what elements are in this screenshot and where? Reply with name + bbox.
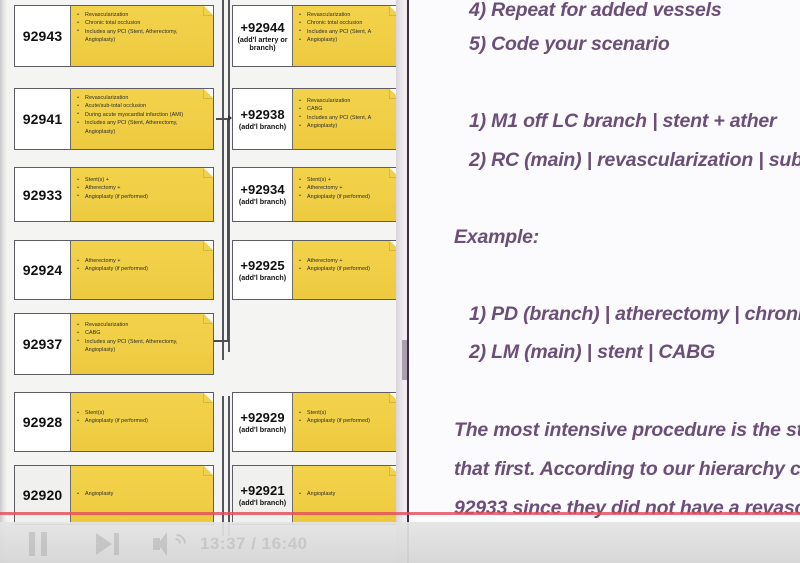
bullet-list: Stent(s) + Atherectomy + Angioplasty (if… bbox=[77, 173, 208, 201]
code-box: 92933 bbox=[15, 168, 71, 221]
code-box: 92943 bbox=[15, 6, 71, 66]
doc-text-line: 4) Repeat for added vessels bbox=[469, 0, 722, 22]
code-card-92943[interactable]: 92943 Revascularization Chronic total oc… bbox=[14, 5, 214, 67]
next-track-icon[interactable] bbox=[96, 533, 122, 555]
bullet-list: Stent(s) Angioplasty (if performed) bbox=[299, 398, 394, 426]
code-card-92937[interactable]: 92937 Revascularization CABG Includes an… bbox=[14, 313, 214, 375]
bullet-item: Atherectomy + bbox=[299, 184, 394, 192]
bullet-item: Stent(s) + bbox=[299, 176, 394, 184]
code-sublabel: (add'l branch) bbox=[239, 123, 286, 131]
code-sublabel: (add'l artery or branch) bbox=[235, 36, 291, 53]
time-display: 13:37 / 16:40 bbox=[200, 534, 308, 554]
code-card-92921[interactable]: +92921 (add'l branch) Angioplasty bbox=[232, 465, 400, 525]
code-label: +92929 bbox=[240, 410, 284, 425]
bullet-item: Atherectomy + bbox=[77, 257, 208, 265]
bullet-item: Revascularization bbox=[77, 321, 208, 329]
folded-corner bbox=[204, 466, 213, 475]
bullet-item: Angioplasty (if performed) bbox=[299, 417, 394, 425]
code-label: +92938 bbox=[240, 107, 284, 122]
code-label: 92924 bbox=[23, 262, 62, 278]
doc-text-line: The most intensive procedure is the sten… bbox=[454, 419, 800, 442]
folded-corner bbox=[204, 241, 213, 250]
video-progress-bar[interactable] bbox=[0, 510, 800, 516]
bullet-list: Angioplasty bbox=[77, 471, 208, 498]
code-card-92920[interactable]: 92920 Angioplasty bbox=[14, 465, 214, 525]
next-triangle bbox=[96, 533, 112, 555]
code-label: 92941 bbox=[23, 111, 62, 127]
gutter-rail-left bbox=[222, 0, 224, 360]
code-card-92941[interactable]: 92941 Revascularization Acute/sub-total … bbox=[14, 88, 214, 150]
code-card-92938[interactable]: +92938 (add'l branch) Revascularization … bbox=[232, 88, 400, 150]
sound-wave-outer bbox=[163, 530, 190, 557]
bullet-item: Angioplasty bbox=[77, 490, 208, 498]
code-box: 92924 bbox=[15, 241, 71, 299]
code-body: Atherectomy + Angioplasty (if performed) bbox=[71, 241, 213, 299]
bullet-item: Includes any PCI (Stent, Atherectomy, An… bbox=[77, 338, 208, 355]
bullet-item: CABG bbox=[77, 329, 208, 337]
code-box: +92944 (add'l artery or branch) bbox=[233, 6, 293, 66]
bullet-item: Includes any PCI (Stent, A bbox=[299, 28, 394, 36]
bullet-item: Atherectomy + bbox=[299, 257, 394, 265]
bullet-item: Angioplasty (if performed) bbox=[77, 193, 208, 201]
pause-bar-left bbox=[29, 532, 35, 556]
bullet-item: Revascularization bbox=[299, 11, 394, 19]
code-label: +92925 bbox=[240, 258, 284, 273]
connector-92937-vertical bbox=[227, 118, 229, 342]
bullet-item: Includes any PCI (Stent, A bbox=[299, 114, 394, 122]
next-bar bbox=[114, 533, 119, 555]
code-sublabel: (add'l branch) bbox=[239, 499, 286, 507]
bullet-item: Revascularization bbox=[299, 97, 394, 105]
code-body: Revascularization CABG Includes any PCI … bbox=[293, 89, 399, 149]
code-label: +92944 bbox=[240, 20, 284, 35]
code-body: Revascularization Acute/sub-total occlus… bbox=[71, 89, 213, 149]
code-label: 92920 bbox=[23, 487, 62, 503]
slide-pane: 92943 Revascularization Chronic total oc… bbox=[0, 0, 402, 563]
bullet-list: Atherectomy + Angioplasty (if performed) bbox=[299, 246, 394, 274]
bullet-item: Angioplasty (if performed) bbox=[77, 265, 208, 273]
bullet-cont: Angioplasty) bbox=[299, 36, 394, 44]
video-player-screen: 92943 Revascularization Chronic total oc… bbox=[0, 0, 800, 563]
bullet-item: Atherectomy + bbox=[77, 184, 208, 192]
code-box: +92938 (add'l branch) bbox=[233, 89, 293, 149]
code-card-92924[interactable]: 92924 Atherectomy + Angioplasty (if perf… bbox=[14, 240, 214, 300]
code-body: Revascularization CABG Includes any PCI … bbox=[71, 314, 213, 374]
doc-text-line: 5) Code your scenario bbox=[469, 33, 670, 56]
bullet-list: Revascularization Chronic total occlusio… bbox=[299, 11, 394, 45]
code-card-92925[interactable]: +92925 (add'l branch) Atherectomy + Angi… bbox=[232, 240, 400, 300]
bullet-list: Stent(s) Angioplasty (if performed) bbox=[77, 398, 208, 426]
code-body: Stent(s) + Atherectomy + Angioplasty (if… bbox=[293, 168, 399, 221]
code-box: +92925 (add'l branch) bbox=[233, 241, 293, 299]
slide-left-edge bbox=[0, 0, 7, 563]
bullet-list: Stent(s) + Atherectomy + Angioplasty (if… bbox=[299, 173, 394, 201]
code-body: Revascularization Chronic total occlusio… bbox=[293, 6, 399, 66]
bullet-item: During acute myocardial infarction (AMI) bbox=[77, 111, 208, 119]
bullet-item: Angioplasty (if performed) bbox=[77, 417, 208, 425]
code-box: +92934 (add'l branch) bbox=[233, 168, 293, 221]
bullet-item: Angioplasty (if performed) bbox=[299, 265, 394, 273]
bullet-item: Angioplasty bbox=[299, 490, 394, 498]
pause-icon[interactable] bbox=[28, 532, 50, 556]
code-body: Stent(s) + Atherectomy + Angioplasty (if… bbox=[71, 168, 213, 221]
bullet-list: Revascularization Chronic total occlusio… bbox=[77, 11, 208, 45]
bullet-item: Includes any PCI (Stent, Atherectomy, An… bbox=[77, 119, 208, 136]
bullet-item: Includes any PCI (Stent, Atherectomy, An… bbox=[77, 28, 208, 45]
bullet-item: Angioplasty (if performed) bbox=[299, 193, 394, 201]
pause-bar-right bbox=[41, 532, 47, 556]
bullet-list: Angioplasty bbox=[299, 471, 394, 498]
code-sublabel: (add'l branch) bbox=[239, 198, 286, 206]
code-label: +92934 bbox=[240, 182, 284, 197]
code-label: 92943 bbox=[23, 28, 62, 44]
doc-text-line: 2) LM (main) | stent | CABG bbox=[469, 341, 715, 364]
bullet-list: Atherectomy + Angioplasty (if performed) bbox=[77, 246, 208, 274]
progress-fill bbox=[0, 512, 800, 515]
bullet-item: CABG bbox=[299, 105, 394, 113]
code-card-92933[interactable]: 92933 Stent(s) + Atherectomy + Angioplas… bbox=[14, 167, 214, 222]
bullet-list: Revascularization Acute/sub-total occlus… bbox=[77, 94, 208, 136]
folded-corner bbox=[204, 89, 213, 98]
code-body: Stent(s) Angioplasty (if performed) bbox=[293, 393, 399, 451]
doc-text-line: 1) PD (branch) | atherectomy | chronic t bbox=[469, 303, 800, 326]
folded-corner bbox=[204, 393, 213, 402]
code-body: Atherectomy + Angioplasty (if performed) bbox=[293, 241, 399, 299]
volume-icon[interactable] bbox=[153, 532, 187, 556]
bullet-item: Stent(s) + bbox=[77, 176, 208, 184]
document-pane: 4) Repeat for added vessels 5) Code your… bbox=[409, 0, 800, 563]
doc-text-line: 2) RC (main) | revascularization | sub-t… bbox=[469, 149, 800, 172]
doc-text-line: 1) M1 off LC branch | stent + ather bbox=[469, 110, 776, 133]
code-box: 92937 bbox=[15, 314, 71, 374]
bullet-cont: Angioplasty) bbox=[299, 122, 394, 130]
code-sublabel: (add'l branch) bbox=[239, 274, 286, 282]
code-card-92944[interactable]: +92944 (add'l artery or branch) Revascul… bbox=[232, 5, 400, 67]
bullet-item: Chronic total occlusion bbox=[299, 19, 394, 27]
folded-corner bbox=[204, 6, 213, 15]
folded-corner bbox=[204, 168, 213, 177]
bullet-item: Revascularization bbox=[77, 94, 208, 102]
code-label: 92933 bbox=[23, 187, 62, 203]
doc-text-line: that first. According to our hierarchy c… bbox=[454, 458, 800, 481]
bullet-item: Acute/sub-total occlusion bbox=[77, 102, 208, 110]
code-card-92934[interactable]: +92934 (add'l branch) Stent(s) + Atherec… bbox=[232, 167, 400, 222]
code-card-92929[interactable]: +92929 (add'l branch) Stent(s) Angioplas… bbox=[232, 392, 400, 452]
code-box: +92929 (add'l branch) bbox=[233, 393, 293, 451]
doc-text-line: Example: bbox=[454, 226, 539, 249]
code-box: 92941 bbox=[15, 89, 71, 149]
code-body: Stent(s) Angioplasty (if performed) bbox=[71, 393, 213, 451]
doc-text-line: 92933 since they did not have a revascul… bbox=[454, 497, 800, 520]
code-label: 92928 bbox=[23, 414, 62, 430]
code-sublabel: (add'l branch) bbox=[239, 426, 286, 434]
code-label: 92937 bbox=[23, 336, 62, 352]
code-box: 92928 bbox=[15, 393, 71, 451]
bullet-list: Revascularization CABG Includes any PCI … bbox=[77, 319, 208, 355]
bullet-list: Revascularization CABG Includes any PCI … bbox=[299, 94, 394, 131]
code-body: Revascularization Chronic total occlusio… bbox=[71, 6, 213, 66]
code-label: +92921 bbox=[240, 483, 284, 498]
folded-corner bbox=[204, 314, 213, 323]
bullet-item: Revascularization bbox=[77, 11, 208, 19]
code-card-92928[interactable]: 92928 Stent(s) Angioplasty (if performed… bbox=[14, 392, 214, 452]
bullet-item: Stent(s) bbox=[299, 409, 394, 417]
bullet-item: Stent(s) bbox=[77, 409, 208, 417]
bullet-item: Chronic total occlusion bbox=[77, 19, 208, 27]
